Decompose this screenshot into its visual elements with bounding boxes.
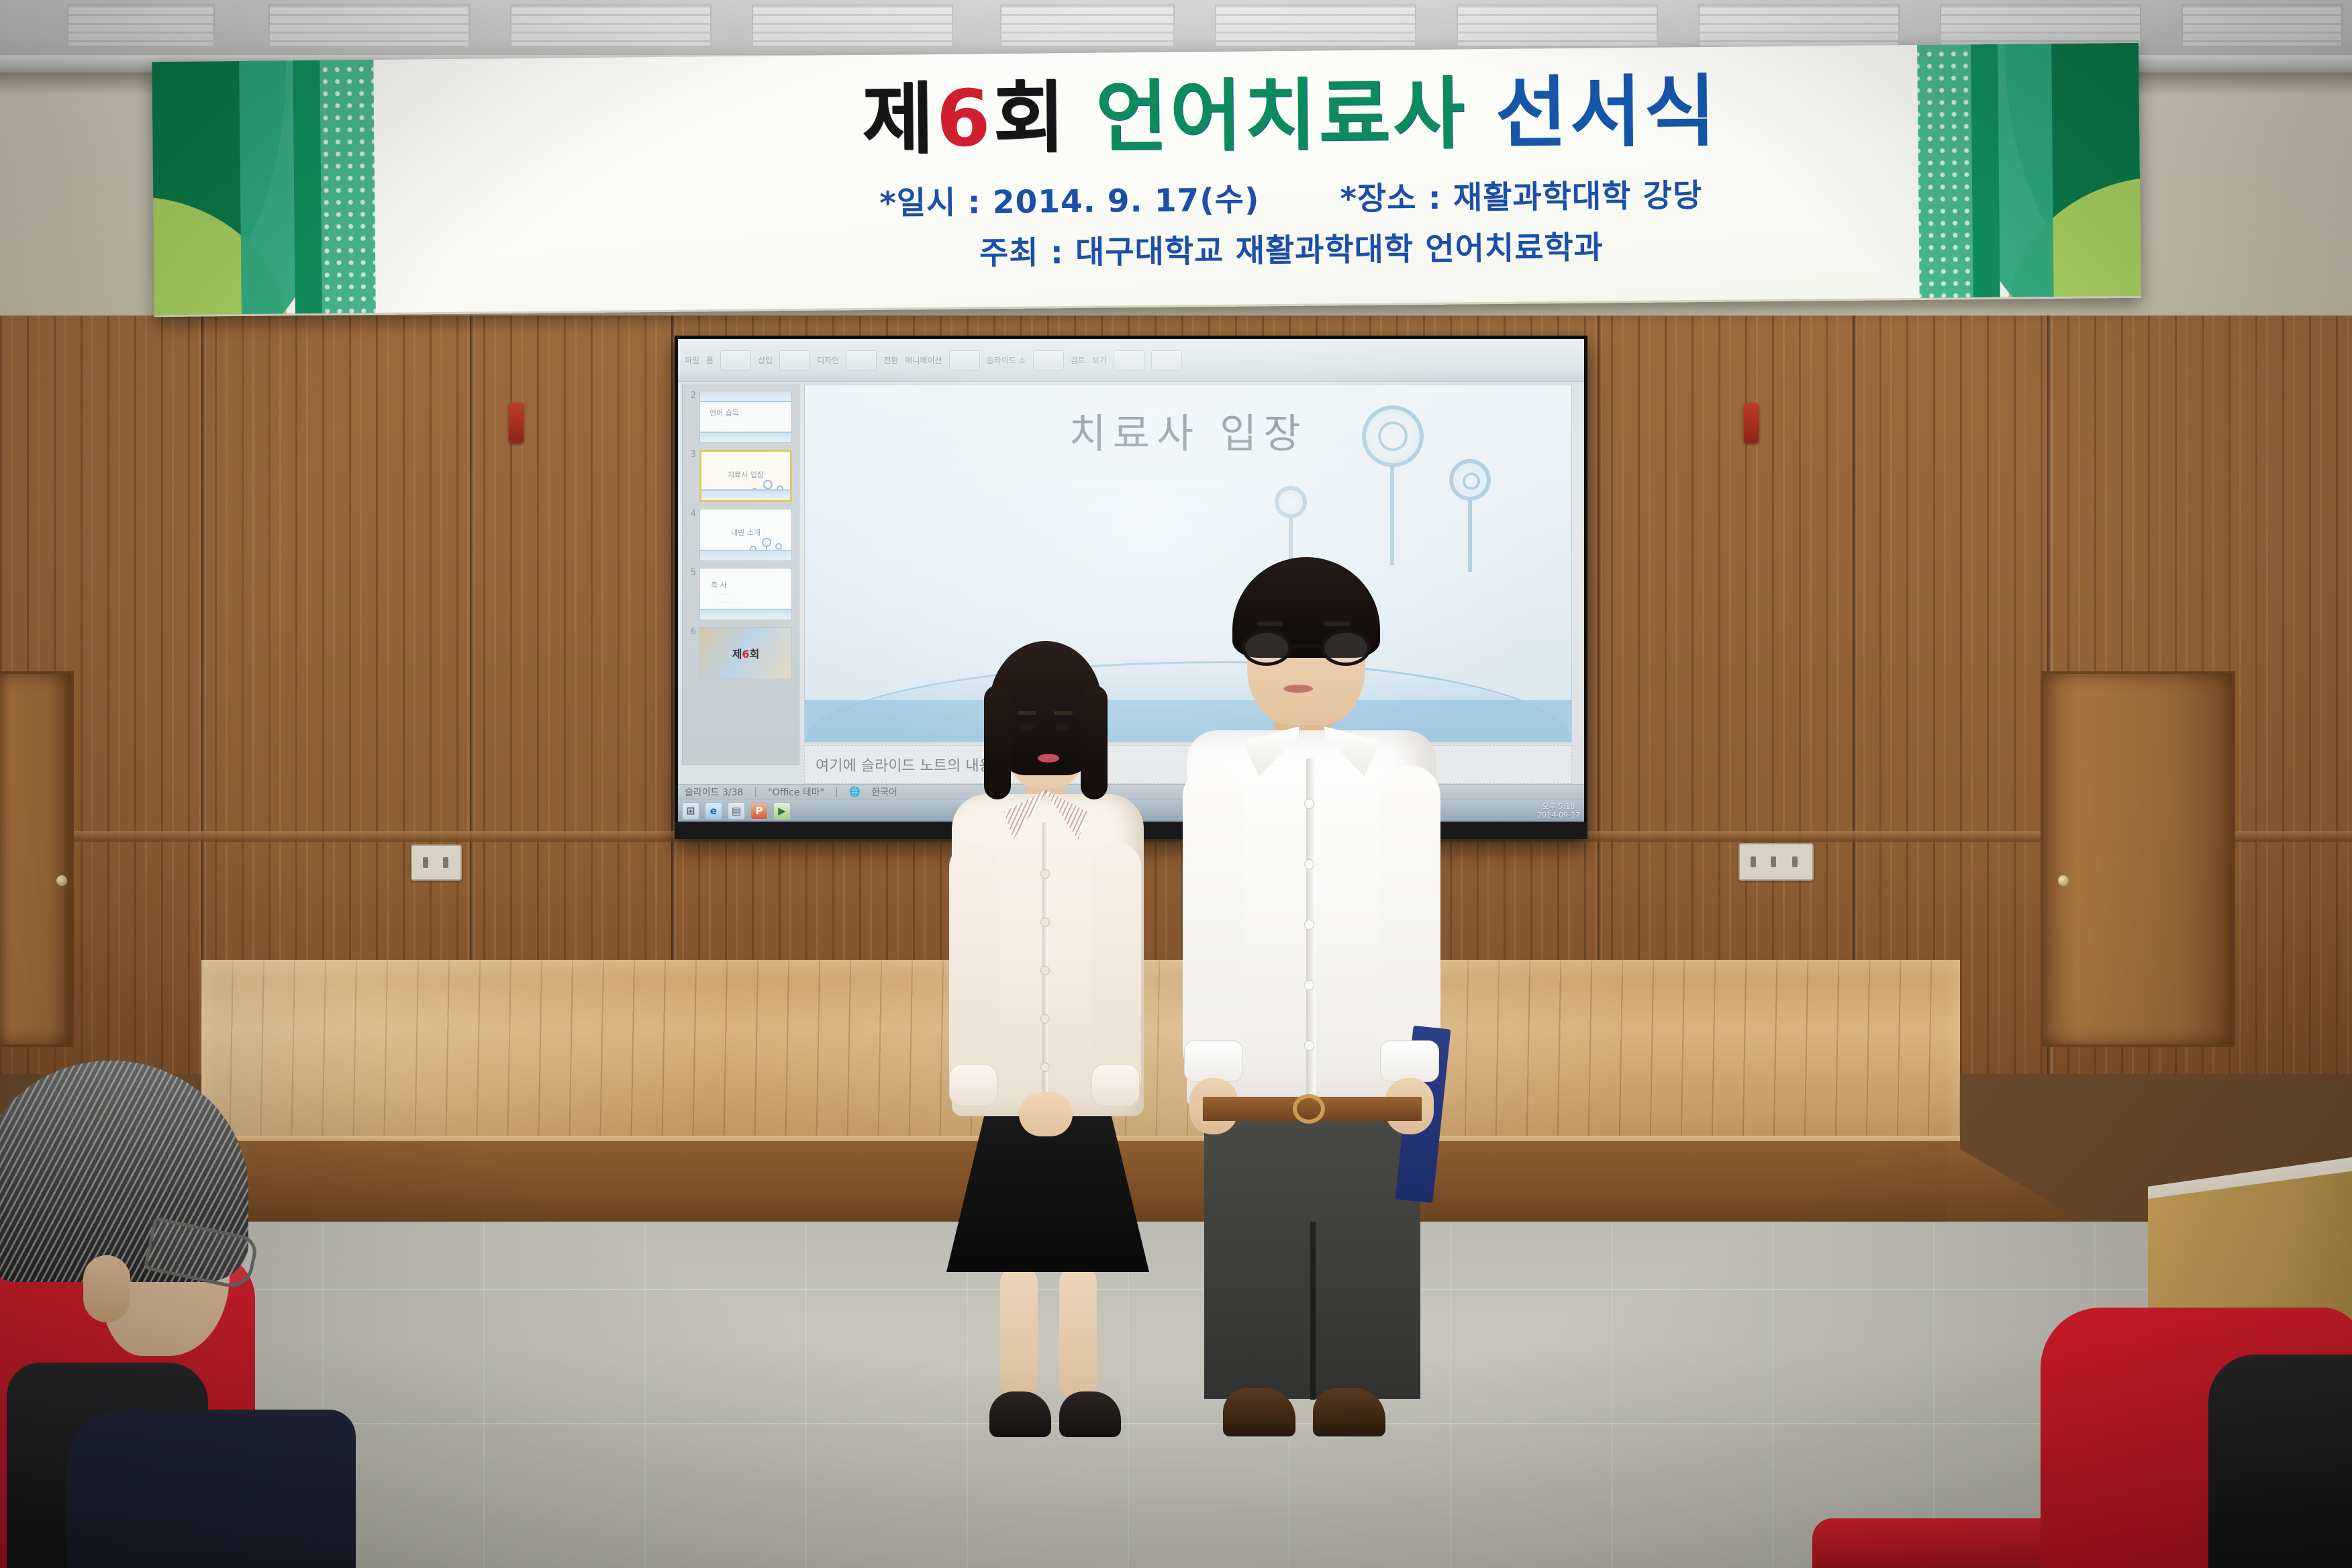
ribbon-button[interactable] bbox=[949, 350, 980, 371]
door-right[interactable] bbox=[2041, 671, 2235, 1047]
banner-title: 제6회언어치료사선서식 bbox=[515, 68, 2066, 164]
banner-decoration-left bbox=[152, 60, 376, 315]
slide-number: 5 bbox=[687, 568, 696, 578]
ribbon-tab-label[interactable]: 파일 bbox=[685, 354, 699, 366]
decor-stem bbox=[1468, 498, 1472, 572]
ribbon-tab-label[interactable]: 검토 bbox=[1071, 354, 1085, 366]
ribbon-button[interactable] bbox=[846, 350, 877, 371]
woman-hair-right bbox=[1081, 685, 1108, 799]
ceiling-panel bbox=[510, 4, 712, 47]
status-divider: | bbox=[754, 787, 757, 797]
woman-button bbox=[1040, 966, 1050, 975]
ceiling-panel bbox=[1215, 4, 1416, 47]
person-woman-speaker bbox=[920, 641, 1168, 1443]
slide-number: 3 bbox=[687, 450, 696, 460]
man-button bbox=[1304, 859, 1314, 869]
system-tray-clock[interactable]: 오후 5:18 2014-09-17 bbox=[1537, 802, 1580, 821]
slide-thumbnail[interactable]: 치료사 입장 bbox=[699, 450, 792, 502]
ribbon-button[interactable] bbox=[1151, 350, 1182, 371]
chair-red-far-right[interactable] bbox=[1812, 1518, 2067, 1568]
person-foreground-audience bbox=[0, 1061, 356, 1568]
ribbon-button[interactable] bbox=[779, 350, 810, 371]
powerpoint-ribbon[interactable]: 파일 홈 삽입 디자인 전환 애니메이션 슬라이드 쇼 검토 보기 bbox=[678, 339, 1584, 382]
foreground-ear bbox=[83, 1255, 130, 1322]
status-divider: | bbox=[835, 787, 838, 797]
ceiling-panel bbox=[1000, 4, 1175, 47]
slide-thumb-title: 내빈 소개 bbox=[700, 527, 791, 538]
woman-button bbox=[1040, 1014, 1050, 1024]
ceiling-panel bbox=[1940, 4, 2141, 47]
man-shoe-left bbox=[1223, 1388, 1295, 1436]
slide-thumbnail[interactable]: 축 사 · · · · ·· · · · · · · ·· · · · · · … bbox=[699, 568, 792, 620]
media-player-icon[interactable]: ▶ bbox=[773, 802, 791, 820]
woman-eye-right bbox=[1056, 724, 1071, 730]
ribbon-tab-label[interactable]: 보기 bbox=[1092, 354, 1107, 366]
slide-thumb-title: 언어 습득 bbox=[709, 407, 739, 418]
woman-shoe-right bbox=[1059, 1391, 1121, 1437]
ceiling-panel bbox=[268, 4, 470, 47]
banner-title-part: 언어치료사 bbox=[1095, 68, 1468, 162]
ribbon-tab-label[interactable]: 애니메이션 bbox=[905, 354, 942, 366]
foreground-navy-suit bbox=[67, 1410, 356, 1568]
woman-eye-left bbox=[1020, 724, 1034, 730]
windows-icon[interactable]: ⊞ bbox=[682, 802, 699, 820]
slide-thumbnail-item[interactable]: 2 언어 습득 · · · · · ·· · · · · · · ·· · · … bbox=[687, 391, 795, 443]
slide-thumbnail-panel[interactable]: 2 언어 습득 · · · · · ·· · · · · · · ·· · · … bbox=[682, 385, 799, 765]
woman-clasped-hands bbox=[1019, 1092, 1073, 1136]
ribbon-tab-label[interactable]: 슬라이드 쇼 bbox=[987, 354, 1026, 366]
woman-button bbox=[1040, 918, 1050, 927]
man-button bbox=[1304, 1040, 1314, 1050]
man-cuff-left bbox=[1184, 1040, 1243, 1082]
eyeglasses-icon bbox=[1242, 630, 1371, 666]
slide-thumbnail[interactable]: 제6회 bbox=[699, 627, 792, 679]
slide-number: 6 bbox=[687, 627, 696, 637]
banner-title-number: 6 bbox=[936, 73, 993, 164]
wall-outlet-left[interactable] bbox=[411, 844, 462, 881]
decor-lollipop-medium bbox=[1449, 459, 1491, 501]
slide-number: 4 bbox=[687, 509, 696, 519]
man-arm-left bbox=[1183, 765, 1244, 1081]
ceiling-panel bbox=[752, 4, 953, 47]
slide-thumbnail[interactable]: 내빈 소개 bbox=[699, 509, 792, 561]
man-lips bbox=[1283, 685, 1313, 693]
status-theme: "Office 테마" bbox=[768, 785, 824, 799]
banner-venue: *장소 : 재활과학대학 강당 bbox=[1340, 177, 1702, 217]
banner-title-part: 제 bbox=[861, 74, 936, 165]
man-eyebrow-left bbox=[1257, 622, 1283, 626]
woman-decorative-collar bbox=[1004, 790, 1087, 840]
woman-cuff-left bbox=[949, 1064, 997, 1107]
slide-title: 치료사 입장 bbox=[805, 401, 1571, 460]
chair-black-right[interactable] bbox=[2208, 1355, 2352, 1568]
man-cuff-right bbox=[1380, 1040, 1439, 1082]
woman-shoe-left bbox=[989, 1391, 1051, 1437]
ceiling-panel bbox=[67, 4, 215, 47]
man-button bbox=[1304, 920, 1314, 930]
fire-alarm-right bbox=[1744, 403, 1759, 443]
status-language: 한국어 bbox=[871, 785, 897, 799]
ceiling-panel bbox=[1698, 4, 1900, 47]
woman-leg-left bbox=[1000, 1265, 1038, 1400]
powerpoint-icon[interactable]: P bbox=[750, 802, 768, 820]
ribbon-tab-label[interactable]: 삽입 bbox=[758, 354, 773, 366]
woman-blouse-placket bbox=[1042, 822, 1048, 1104]
man-button bbox=[1304, 799, 1314, 809]
woman-button bbox=[1040, 869, 1050, 879]
banner-title-part: 회 bbox=[993, 72, 1068, 164]
belt-buckle-icon bbox=[1293, 1094, 1325, 1124]
ribbon-tab-label[interactable]: 전환 bbox=[883, 354, 898, 366]
ribbon-tab-label[interactable]: 홈 bbox=[706, 354, 714, 366]
slide-thumbnail[interactable]: 언어 습득 · · · · · ·· · · · · · · ·· · · · … bbox=[699, 391, 792, 443]
banner-title-part: 선서식 bbox=[1495, 66, 1718, 159]
woman-cuff-right bbox=[1091, 1064, 1140, 1107]
slide-thumbnail-item-active[interactable]: 3 치료사 입장 bbox=[687, 450, 795, 502]
woman-leg-right bbox=[1059, 1265, 1097, 1400]
man-shirt-placket bbox=[1306, 758, 1316, 1108]
ribbon-button[interactable] bbox=[1033, 350, 1064, 371]
decor-stem bbox=[1390, 464, 1394, 565]
ribbon-tab-label[interactable]: 디자인 bbox=[817, 354, 839, 366]
door-left[interactable] bbox=[0, 671, 74, 1047]
slide-thumbnail-item[interactable]: 4 내빈 소개 bbox=[687, 509, 795, 561]
tray-time: 오후 5:18 bbox=[1542, 802, 1575, 811]
fire-alarm-left bbox=[509, 403, 524, 443]
decor-lollipop-small bbox=[1275, 486, 1307, 518]
decor-lollipop-large bbox=[1362, 405, 1424, 467]
internet-explorer-icon[interactable]: e bbox=[705, 802, 722, 820]
ribbon-button[interactable] bbox=[1114, 350, 1144, 371]
man-shoe-right bbox=[1313, 1388, 1385, 1436]
woman-eyebrow-left bbox=[1018, 711, 1036, 715]
man-eyebrow-right bbox=[1324, 622, 1351, 626]
man-button bbox=[1304, 980, 1314, 990]
stage-right-ramp bbox=[1947, 1141, 2101, 1232]
banner-subtitle-line-1: *일시 : 2014. 9. 17(수)*장소 : 재활과학대학 강당 bbox=[516, 166, 2067, 227]
slide-thumbnail-item[interactable]: 5 축 사 · · · · ·· · · · · · · ·· · · · · … bbox=[687, 568, 795, 620]
woman-eyebrow-right bbox=[1054, 711, 1073, 715]
banner-date: *일시 : 2014. 9. 17(수) bbox=[879, 181, 1260, 222]
slide-thumbnail-item[interactable]: 6 제6회 bbox=[687, 627, 795, 679]
auditorium-photo-scene: 파일 홈 삽입 디자인 전환 애니메이션 슬라이드 쇼 검토 보기 bbox=[0, 0, 2352, 1568]
folder-icon[interactable]: ▤ bbox=[728, 802, 745, 820]
ribbon-button[interactable] bbox=[720, 350, 751, 371]
globe-icon: 🌐 bbox=[849, 787, 861, 797]
status-slide-counter: 슬라이드 3/38 bbox=[685, 785, 743, 799]
woman-lips bbox=[1038, 754, 1059, 763]
tray-date: 2014-09-17 bbox=[1537, 811, 1580, 820]
person-man-speaker bbox=[1168, 557, 1457, 1443]
slide-thumb-title: 치료사 입장 bbox=[701, 469, 790, 480]
banner-subtitle-line-2: 주최 : 대구대학교 재활과학대학 언어치료학과 bbox=[516, 217, 2067, 278]
slide-thumb-title: 축 사 bbox=[711, 579, 727, 590]
wall-outlet-right[interactable] bbox=[1738, 843, 1814, 881]
woman-hair-left bbox=[984, 685, 1011, 799]
ceiling-panel bbox=[1457, 4, 1658, 47]
slide-thumb-title: 제6회 bbox=[700, 645, 791, 661]
ceiling-panel bbox=[2182, 4, 2343, 47]
woman-button bbox=[1040, 1063, 1050, 1072]
man-trouser-seam bbox=[1310, 1222, 1316, 1400]
slide-number: 2 bbox=[687, 391, 696, 401]
event-banner: 제6회언어치료사선서식 *일시 : 2014. 9. 17(수)*장소 : 재활… bbox=[152, 43, 2141, 317]
